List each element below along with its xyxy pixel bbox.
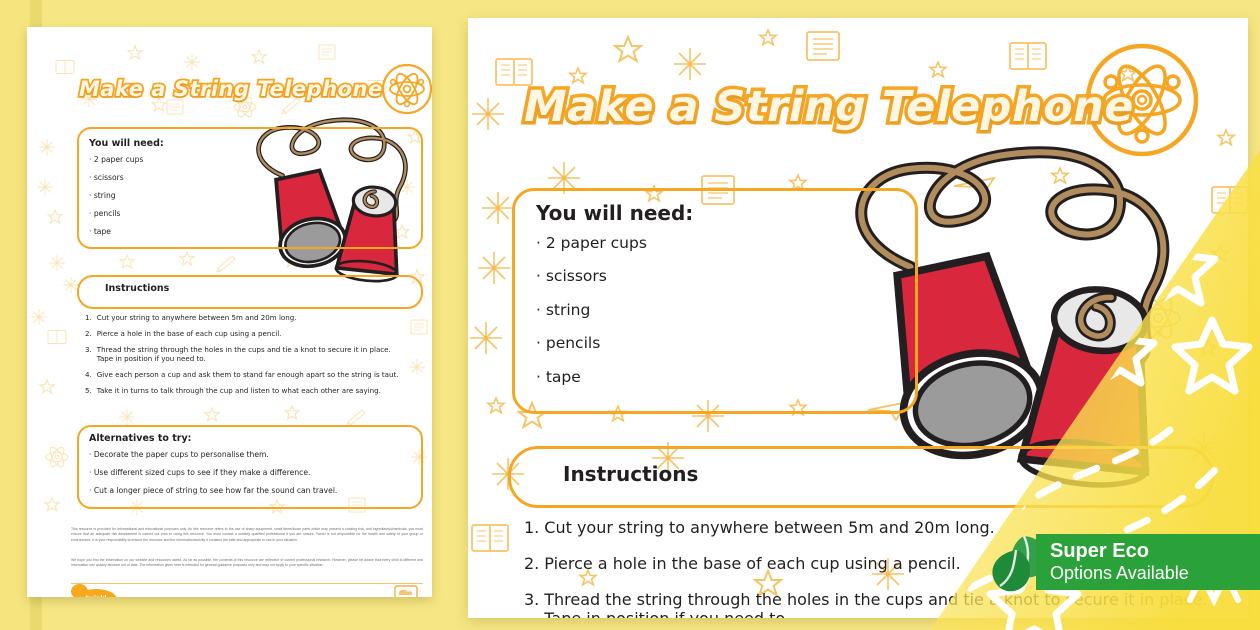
step-text: Pierce a hole in the base of each cup us… [97, 329, 282, 338]
disclaimer-paragraph: This resource is provided for informatio… [71, 527, 423, 543]
material-item: · pencils [536, 334, 600, 352]
twinkl-logo[interactable]: twinkl [75, 589, 117, 597]
page-title: Make a String Telephone [79, 77, 383, 101]
footer-divider [71, 583, 423, 584]
step-number: 3. [524, 590, 539, 618]
instruction-step: 3. Thread the string through the holes i… [85, 345, 421, 363]
eco-badge-subtitle: Options Available [1050, 563, 1246, 583]
step-number: 2. [524, 554, 539, 573]
step-number: 3. [85, 345, 92, 363]
instruction-step: 1. Cut your string to anywhere between 5… [85, 313, 421, 322]
material-item: · 2 paper cups [89, 155, 143, 164]
material-item: · tape [536, 368, 581, 386]
instructions-heading: Instructions [105, 283, 169, 294]
instruction-step: 2. Pierce a hole in the base of each cup… [85, 329, 421, 338]
material-item: · scissors [89, 173, 124, 182]
materials-heading: You will need: [536, 201, 693, 225]
step-number: 4. [85, 370, 92, 379]
instruction-step: 4. Give each person a cup and ask them t… [85, 370, 421, 379]
instruction-step: 3. Thread the string through the holes i… [524, 590, 1224, 618]
material-item: · pencils [89, 209, 120, 218]
step-number: 1. [524, 518, 539, 537]
step-text: Cut your string to anywhere between 5m a… [97, 313, 297, 322]
resource-detail-panel[interactable]: Make a String Telephone You will need: ·… [468, 18, 1248, 618]
step-text: Give each person a cup and ask them to s… [97, 370, 399, 379]
doodle-background [27, 27, 432, 597]
material-item: · scissors [536, 267, 607, 285]
disclaimer-paragraph: We hope you find the information on our … [71, 558, 423, 569]
step-text: Pierce a hole in the base of each cup us… [544, 554, 960, 573]
material-item: · 2 paper cups [536, 234, 647, 252]
twinkl-logo-text: twinkl [86, 595, 107, 597]
alternative-item: · Use different sized cups to see if the… [89, 468, 310, 477]
alternatives-heading: Alternatives to try: [89, 433, 191, 444]
instruction-step: 5. Take it in turns to talk through the … [85, 386, 421, 395]
step-number: 1. [85, 313, 92, 322]
step-text: Thread the string through the holes in t… [544, 590, 1207, 618]
step-text: Thread the string through the holes in t… [97, 345, 391, 363]
materials-heading: You will need: [89, 138, 164, 149]
material-item: · string [536, 301, 590, 319]
resource-preview-thumbnail[interactable]: Make a String Telephone You will need: ·… [27, 27, 432, 597]
eco-badge-title: Super Eco [1050, 541, 1246, 563]
atom-icon [379, 61, 432, 117]
worksheet-icon [392, 583, 420, 597]
step-number: 5. [85, 386, 92, 395]
step-number: 2. [85, 329, 92, 338]
alternative-item: · Cut a longer piece of string to see ho… [89, 486, 337, 495]
step-text: Take it in turns to talk through the cup… [97, 386, 381, 395]
alternative-item: · Decorate the paper cups to personalise… [89, 450, 269, 459]
material-item: · string [89, 191, 116, 200]
step-text: Cut your string to anywhere between 5m a… [544, 518, 995, 537]
super-eco-badge[interactable]: Super Eco Options Available [1036, 534, 1260, 590]
material-item: · tape [89, 227, 111, 236]
instructions-heading: Instructions [563, 462, 698, 486]
page-title: Make a String Telephone [524, 82, 1134, 132]
